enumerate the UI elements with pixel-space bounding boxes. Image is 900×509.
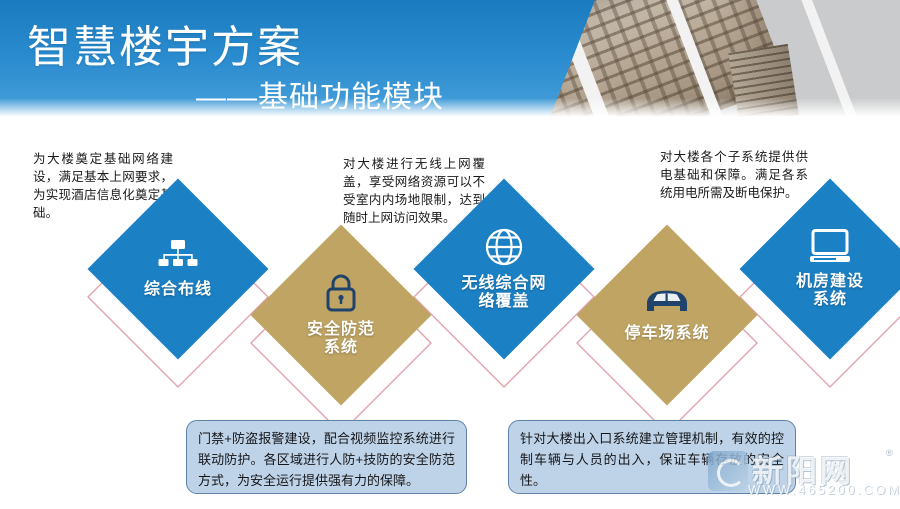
monitor-icon xyxy=(809,229,851,270)
diamond-datacenter-system[interactable]: 机房建设 系统 xyxy=(739,178,900,359)
diamond-label: 安全防范 系统 xyxy=(307,321,375,358)
callout-parking: 针对大楼出入口系统建立管理机制，有效的控制车辆与人员的出入，保证车辆存放的安全性… xyxy=(508,420,796,494)
sitemap-icon xyxy=(158,239,198,278)
car-icon xyxy=(644,287,690,322)
callout-security: 门禁+防盗报警建设，配合视频监控系统进行联动防护。各区域进行人防+技防的安全防范… xyxy=(186,420,467,494)
lock-icon xyxy=(323,273,359,318)
diamond-label: 机房建设 系统 xyxy=(796,273,864,310)
page-title: 智慧楼宇方案 xyxy=(27,11,303,75)
diamond-wireless-network[interactable]: 无线综合网 络覆盖 xyxy=(413,178,594,359)
diamond-security-system[interactable]: 安全防范 系统 xyxy=(250,224,431,405)
page-header: 智慧楼宇方案 ——基础功能模块 xyxy=(0,0,900,118)
watermark-registered-mark: ® xyxy=(886,448,893,458)
diamond-label: 无线综合网 络覆盖 xyxy=(461,275,546,312)
callout-text: 门禁+防盗报警建设，配合视频监控系统进行联动防护。各区域进行人防+技防的安全防范… xyxy=(198,431,455,488)
diamond-label: 停车场系统 xyxy=(624,325,709,343)
note-datacenter: 对大楼各个子系统提供供电基础和保障。满足各系统用电所需及断电保护。 xyxy=(660,148,808,202)
callout-text: 针对大楼出入口系统建立管理机制，有效的控制车辆与人员的出入，保证车辆存放的安全性… xyxy=(520,431,784,488)
diamond-comprehensive-cabling[interactable]: 综合布线 xyxy=(87,178,268,359)
globe-icon xyxy=(484,227,524,272)
header-fade xyxy=(0,98,900,118)
diamond-label: 综合布线 xyxy=(144,281,212,299)
diamond-parking-system[interactable]: 停车场系统 xyxy=(576,224,757,405)
